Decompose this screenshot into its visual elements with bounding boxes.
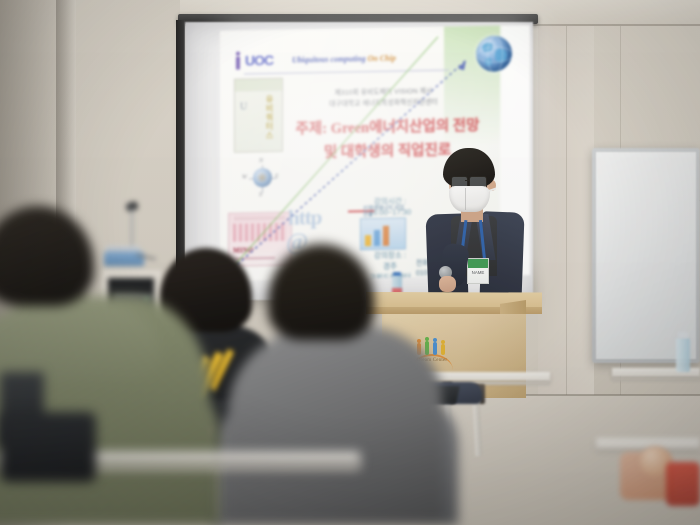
hair (0, 206, 94, 306)
whiteboard (596, 152, 696, 359)
table-edge (612, 377, 700, 381)
bottle-cap (678, 332, 688, 338)
red-container (666, 462, 700, 506)
water-bottle (676, 338, 690, 372)
chair (0, 412, 96, 482)
wall-strip-seam (566, 0, 567, 400)
lecture-photo-scene: UOC Ubiquitous computing On Chip 제310회 유… (0, 0, 700, 525)
